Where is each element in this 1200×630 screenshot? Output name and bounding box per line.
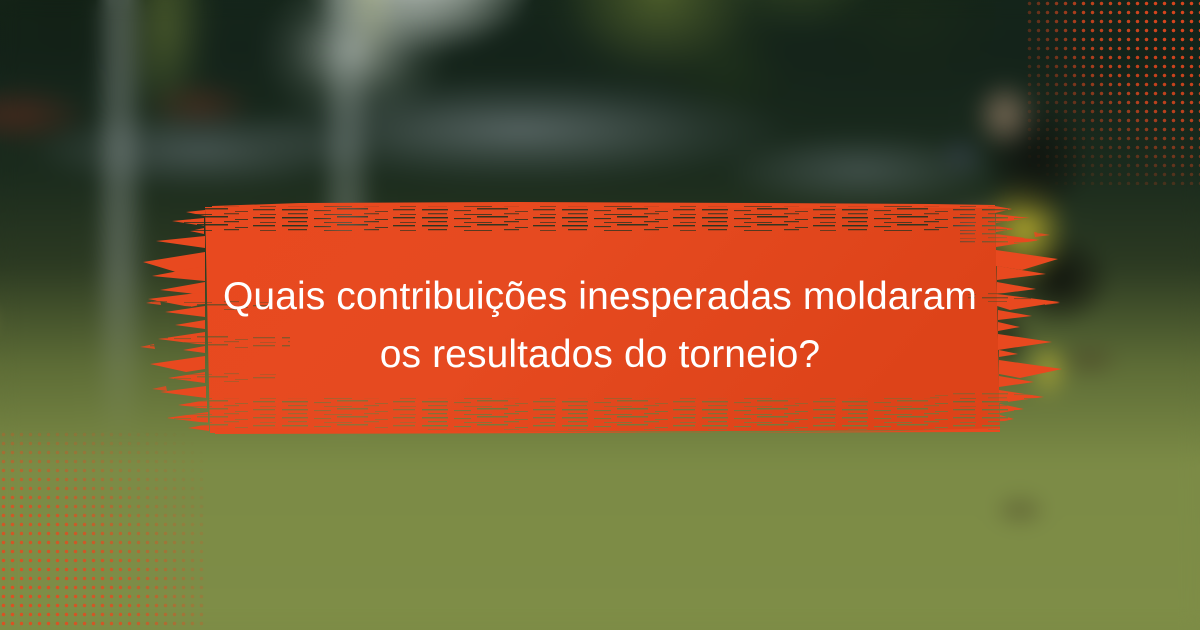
headline-text: Quais contribuições inesperadas moldaram… xyxy=(175,268,1025,384)
social-card: Quais contribuições inesperadas moldaram… xyxy=(0,0,1200,630)
